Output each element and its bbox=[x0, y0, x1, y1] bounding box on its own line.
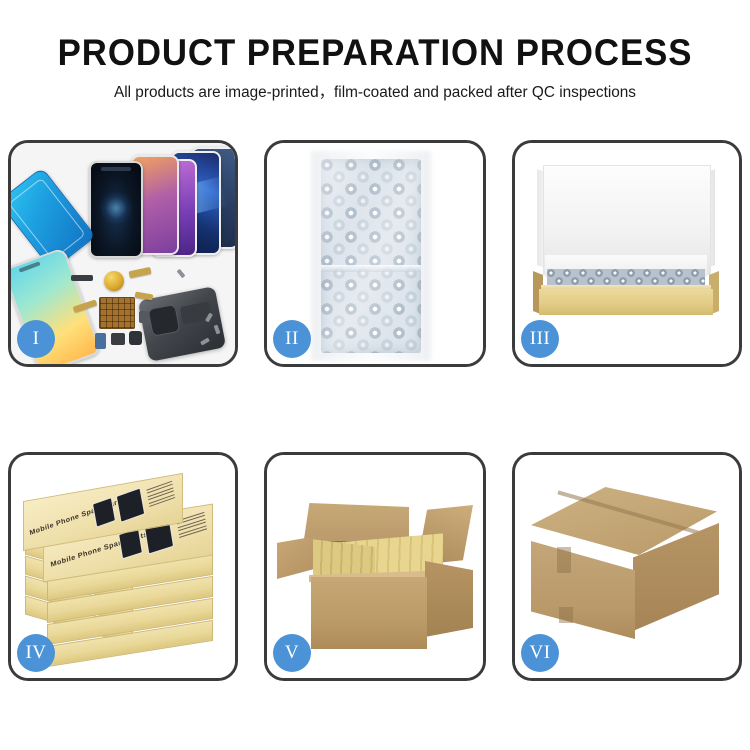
chip-grid-icon bbox=[99, 297, 135, 329]
screen-protector-icon bbox=[89, 161, 143, 258]
bubble-wrap-icon bbox=[321, 159, 421, 353]
step-panel-4-stacked-boxes: Mobile Phone Spare Parts Mobile Phone Sp… bbox=[8, 452, 238, 681]
step-badge-6: VI bbox=[521, 634, 559, 672]
carton-front-face bbox=[531, 541, 635, 639]
step-badge-3: III bbox=[521, 320, 559, 358]
carton-tape-lower bbox=[559, 607, 573, 623]
steps-grid: I II bbox=[0, 0, 750, 750]
flex-cable-icon-2 bbox=[135, 291, 154, 300]
step-panel-6-sealed-carton: VI bbox=[512, 452, 742, 681]
step-badge-4: IV bbox=[17, 634, 55, 672]
step-badge-5: V bbox=[273, 634, 311, 672]
step-badge-2: II bbox=[273, 320, 311, 358]
box-front-panel bbox=[539, 289, 713, 315]
carton-tape-upper bbox=[557, 547, 571, 573]
earpiece-mesh-icon bbox=[71, 275, 93, 281]
speaker-coil-icon bbox=[104, 271, 124, 291]
bubble-wrap-seam bbox=[321, 265, 421, 272]
step-panel-1-products: I bbox=[8, 140, 238, 367]
product-preparation-infographic: PRODUCT PREPARATION PROCESS All products… bbox=[0, 0, 750, 750]
carton-front-panel bbox=[311, 577, 427, 649]
box-screen-thumb bbox=[92, 497, 116, 528]
step-panel-2-bubble-wrap: II bbox=[264, 140, 486, 367]
screw-icon-4 bbox=[177, 269, 186, 278]
step-panel-5-open-carton: V bbox=[264, 452, 486, 681]
bracket-icon-3 bbox=[139, 311, 149, 323]
step-panel-3-inner-box: III bbox=[512, 140, 742, 367]
mini-screen-icon bbox=[95, 333, 106, 349]
step-badge-1: I bbox=[17, 320, 55, 358]
carton-right-side bbox=[425, 561, 473, 637]
bracket-icon-1 bbox=[111, 333, 125, 345]
bracket-icon-2 bbox=[129, 331, 142, 345]
box-screen-thumb bbox=[116, 487, 145, 522]
flex-cable-icon-1 bbox=[129, 267, 152, 278]
box-spec-lines bbox=[146, 481, 175, 509]
